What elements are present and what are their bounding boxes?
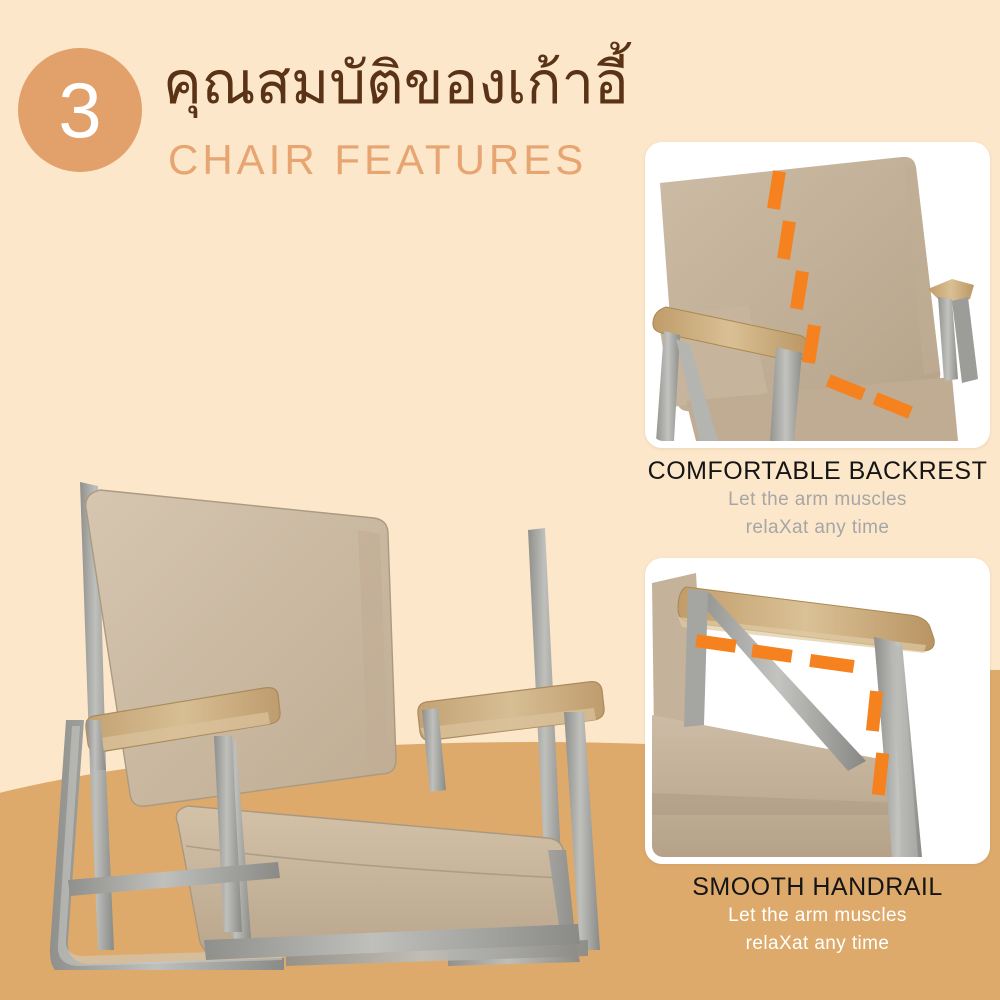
feature-comfortable-backrest: COMFORTABLE BACKREST Let the arm muscles… [645,142,990,540]
backrest-photo-card [645,142,990,448]
handrail-caption-title: SMOOTH HANDRAIL [645,873,990,901]
handrail-photo-card [645,558,990,864]
handrail-closeup-photo [652,565,983,857]
backrest-caption-subtitle-line2: relaXat any time [645,516,990,541]
backrest-caption: COMFORTABLE BACKREST Let the arm muscles… [645,448,990,540]
backrest-caption-title: COMFORTABLE BACKREST [645,457,990,485]
backrest-closeup-photo [652,149,983,441]
section-number: 3 [58,71,101,149]
handrail-caption-subtitle-line1: Let the arm muscles [645,904,990,929]
page-title-thai: คุณสมบัติของเก้าอี้ [163,52,629,115]
page-title-english: CHAIR FEATURES [168,136,587,184]
feature-smooth-handrail: SMOOTH HANDRAIL Let the arm muscles rela… [645,558,990,956]
handrail-caption-subtitle-line2: relaXat any time [645,932,990,957]
feature-list: COMFORTABLE BACKREST Let the arm muscles… [645,142,990,957]
section-number-badge: 3 [18,48,142,172]
handrail-caption: SMOOTH HANDRAIL Let the arm muscles rela… [645,864,990,956]
page-header: 3 คุณสมบัติของเก้าอี้ CHAIR FEATURES [0,0,660,215]
backrest-caption-subtitle-line1: Let the arm muscles [645,488,990,513]
hero-chair-image [28,250,638,970]
